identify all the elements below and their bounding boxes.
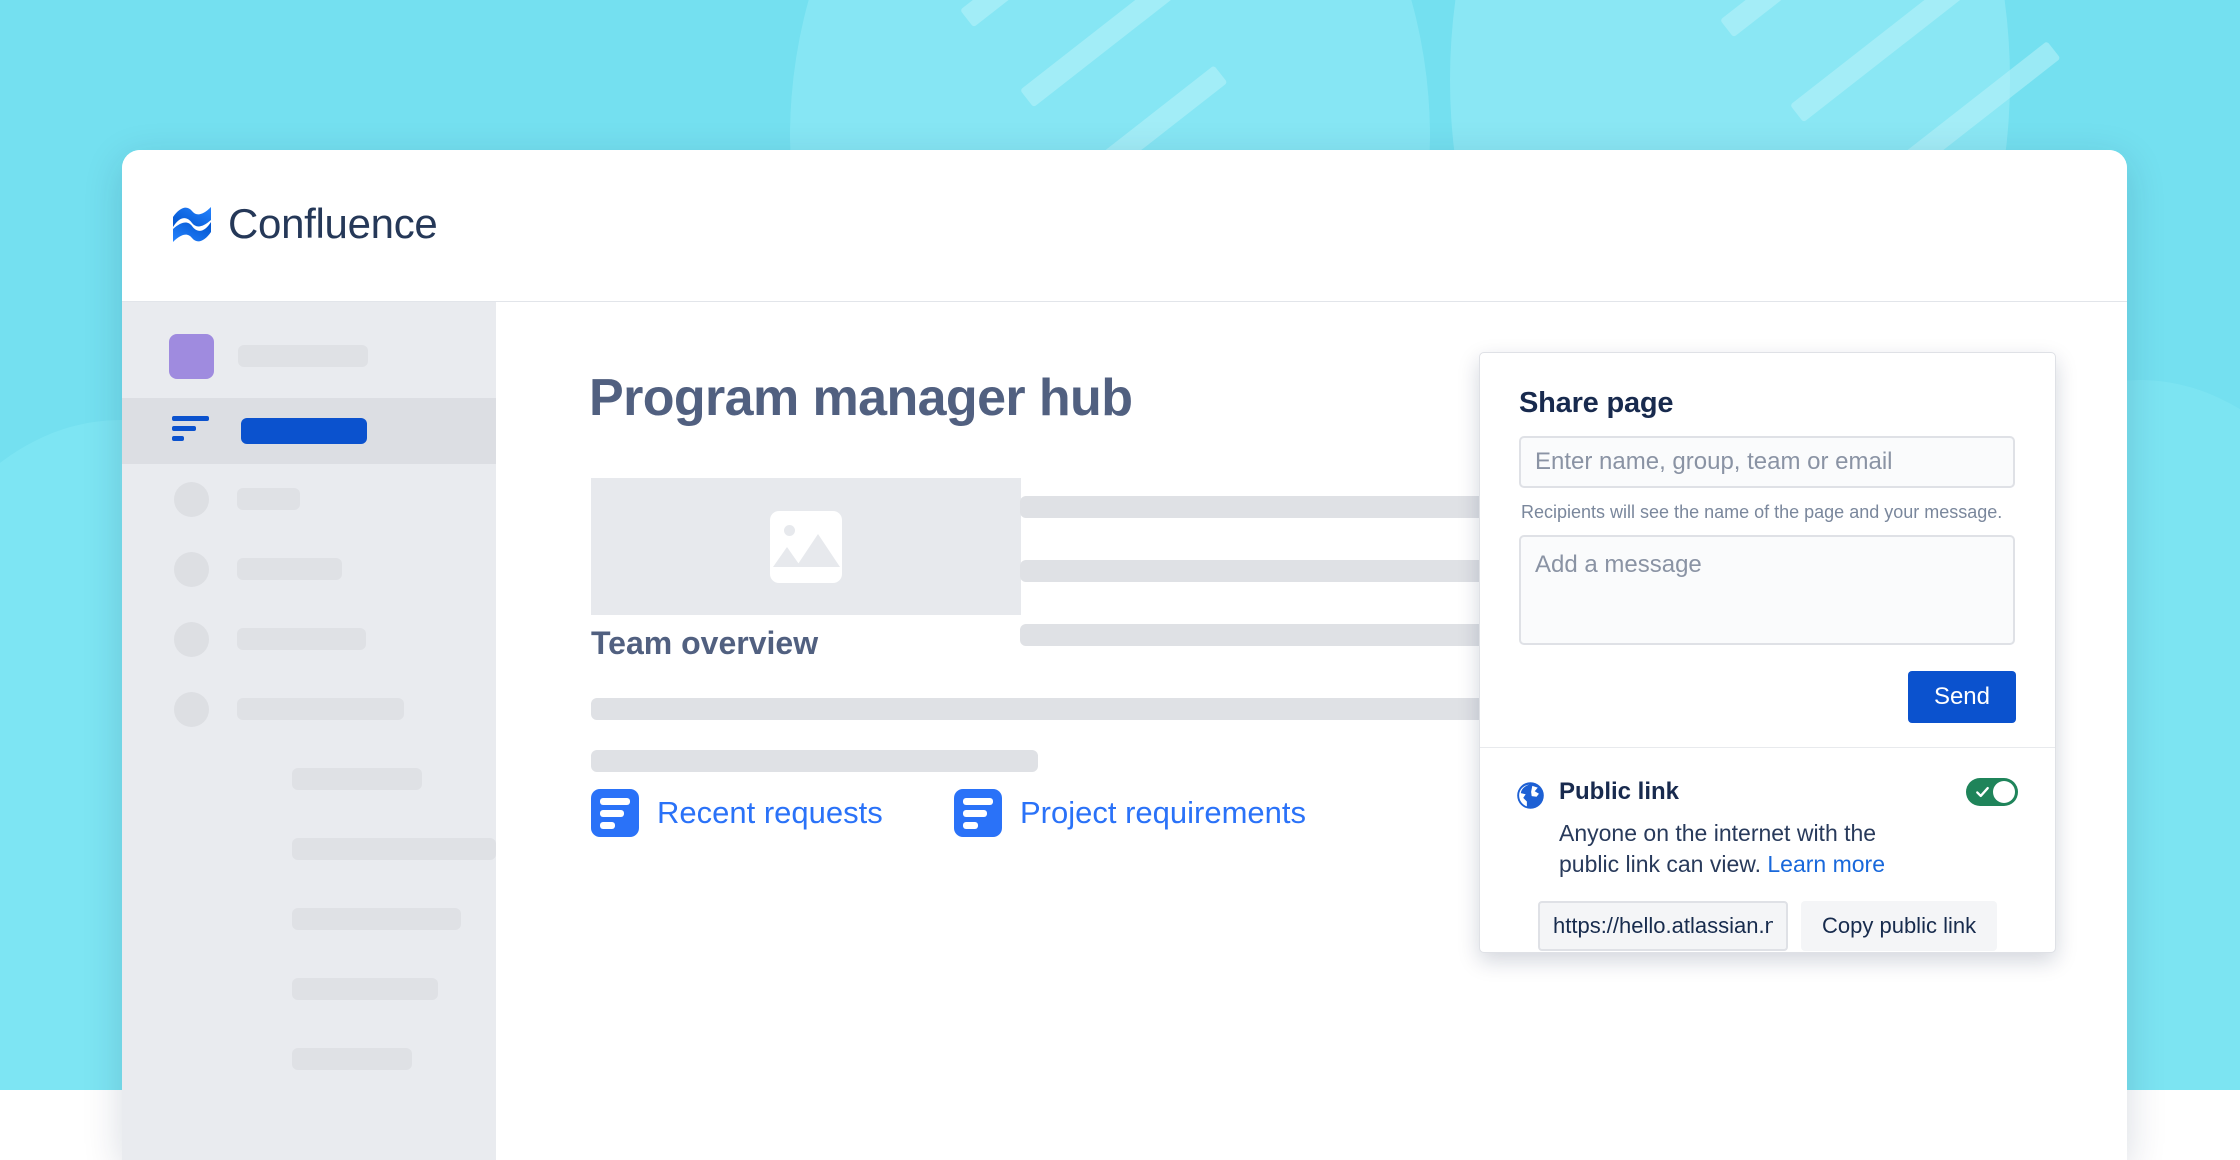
share-hint-text: Recipients will see the name of the page… [1521,502,2016,523]
share-page-dialog: Share page Recipients will see the name … [1479,352,2056,953]
public-link-description: Anyone on the internet with the public l… [1559,818,1929,879]
hero-image-placeholder [591,478,1021,615]
check-icon [1975,785,1990,799]
message-input[interactable] [1519,535,2015,645]
space-avatar-icon [169,334,214,379]
share-dialog-title: Share page [1519,387,2016,420]
avatar-circle-icon [174,692,209,727]
sidebar-item-person[interactable] [122,604,496,674]
send-button[interactable]: Send [1908,671,2016,723]
public-link-toggle[interactable] [1966,778,2018,806]
sidebar-item-current-page[interactable] [122,398,496,464]
image-placeholder-icon [770,511,842,583]
sidebar-item-label [237,628,366,650]
recipients-input[interactable] [1519,436,2015,488]
public-link-section: Public link Anyone on the internet with … [1480,748,2055,951]
sidebar-item-child[interactable] [122,1024,496,1094]
sidebar-item-label [237,698,404,720]
public-link-title: Public link [1559,778,1679,806]
page-link-recent-requests[interactable]: Recent requests [591,789,883,837]
avatar-circle-icon [174,482,209,517]
avatar-circle-icon [174,552,209,587]
body-text-placeholder [591,750,1038,772]
sidebar-item-child[interactable] [122,814,496,884]
public-url-input[interactable] [1538,901,1788,951]
sidebar-item-space[interactable] [122,314,496,398]
section-heading: Team overview [591,625,818,662]
sidebar-item-label [241,418,367,444]
page-document-icon [954,789,1002,837]
sidebar [122,302,496,1160]
sidebar-item-label [292,768,422,790]
sidebar-item-label [237,488,300,510]
sidebar-item-child[interactable] [122,884,496,954]
send-row: Send [1480,645,2055,747]
page-link-project-requirements[interactable]: Project requirements [954,789,1306,837]
app-header: Confluence + [122,150,2127,302]
learn-more-link[interactable]: Learn more [1767,851,1885,877]
sidebar-item-label [292,908,461,930]
page-lines-icon [172,416,210,446]
sidebar-item-person[interactable] [122,534,496,604]
logo-text: Confluence [228,200,437,248]
globe-icon [1516,781,1545,810]
sidebar-item-label [237,558,342,580]
sidebar-item-person[interactable] [122,674,496,744]
page-link-label: Recent requests [657,795,883,831]
page-link-label: Project requirements [1020,795,1306,831]
sidebar-item-child[interactable] [122,954,496,1024]
sidebar-item-label [292,978,438,1000]
sidebar-item-label [292,838,496,860]
toggle-knob [1993,781,2015,803]
public-link-row: Copy public link [1516,879,2016,951]
sidebar-item-person[interactable] [122,464,496,534]
sidebar-item-child[interactable] [122,744,496,814]
sidebar-item-label [238,345,368,367]
page-title: Program manager hub [589,368,1132,428]
avatar-circle-icon [174,622,209,657]
share-form: Share page Recipients will see the name … [1480,353,2055,645]
confluence-logo[interactable]: Confluence [170,200,437,248]
copy-public-link-button[interactable]: Copy public link [1801,901,1997,951]
public-link-header: Public link [1516,778,2016,810]
page-document-icon [591,789,639,837]
confluence-logo-icon [170,204,214,244]
sidebar-item-label [292,1048,412,1070]
